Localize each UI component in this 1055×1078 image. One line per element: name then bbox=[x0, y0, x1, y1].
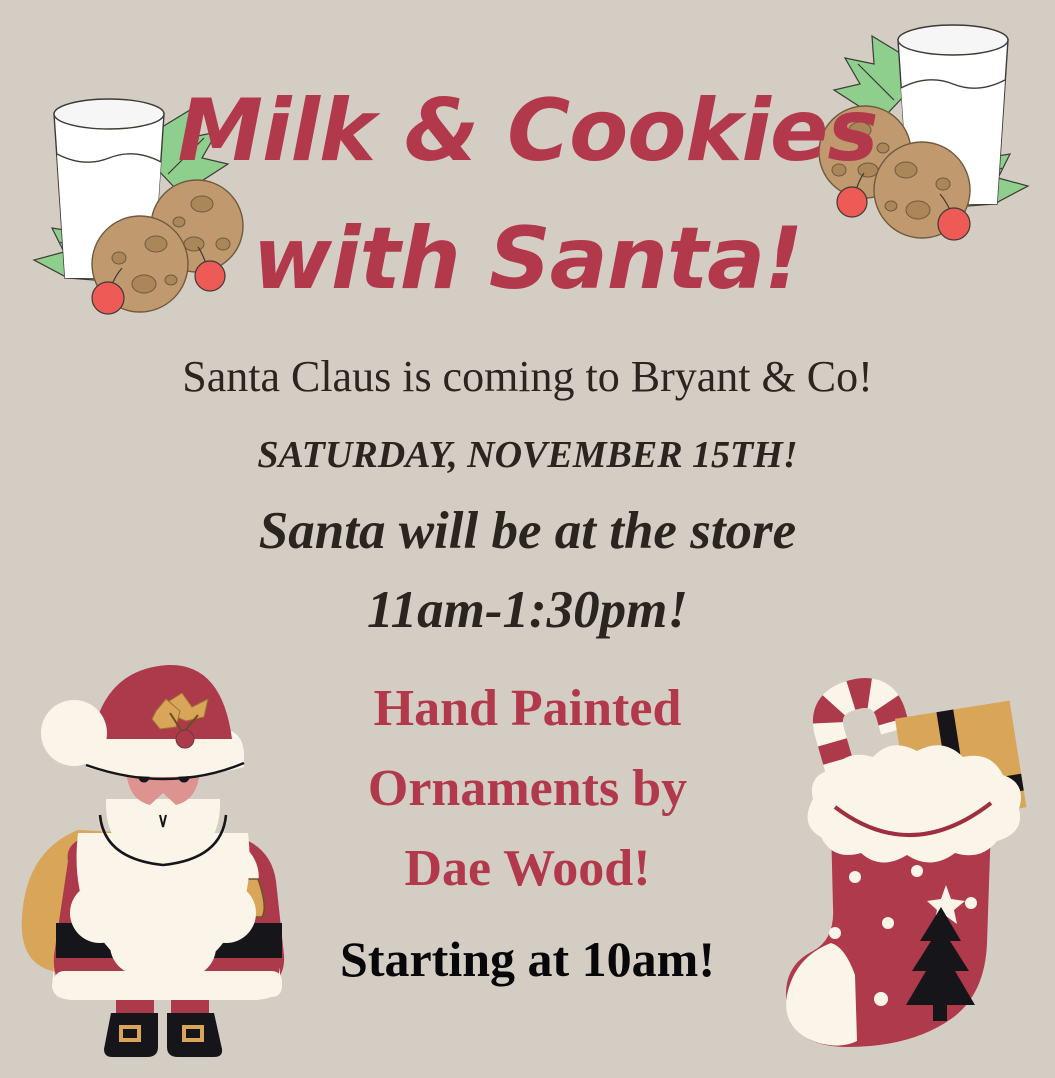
store-presence-line: Santa will be at the store bbox=[0, 505, 1055, 558]
event-date-line: SATURDAY, NOVEMBER 15TH! bbox=[0, 436, 1055, 474]
flyer-canvas: Milk & Cookies with Santa! Santa Claus i… bbox=[0, 0, 1055, 1078]
event-hours-line: 11am-1:30pm! bbox=[0, 584, 1055, 637]
announcement-line: Santa Claus is coming to Bryant & Co! bbox=[0, 355, 1055, 399]
flyer-title-line-1: Milk & Cookies bbox=[0, 88, 1055, 174]
christmas-stocking-icon bbox=[775, 675, 1050, 1070]
flyer-title-line-2: with Santa! bbox=[0, 216, 1055, 302]
santa-claus-icon bbox=[8, 655, 318, 1070]
